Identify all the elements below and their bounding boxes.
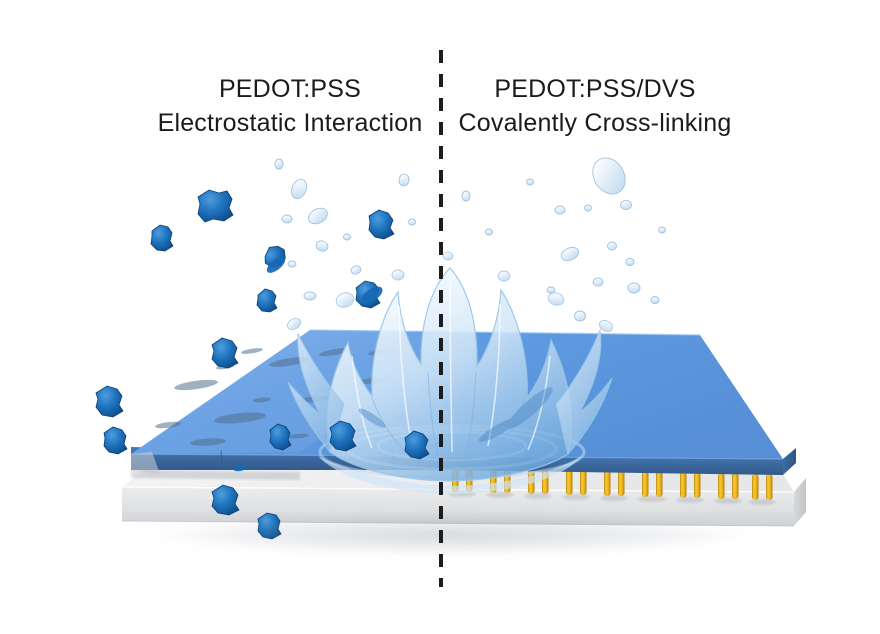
caption-right: PEDOT:PSS/DVS Covalently Cross-linking — [440, 72, 750, 140]
caption-left: PEDOT:PSS Electrostatic Interaction — [140, 72, 440, 140]
dashed-divider — [439, 50, 443, 587]
caption-right-line2: Covalently Cross-linking — [440, 106, 750, 140]
device-drop-shadow — [150, 515, 750, 555]
caption-left-line1: PEDOT:PSS — [140, 72, 440, 106]
caption-right-line1: PEDOT:PSS/DVS — [440, 72, 750, 106]
figure-canvas: PEDOT:PSS Electrostatic Interaction PEDO… — [0, 0, 880, 634]
caption-left-line2: Electrostatic Interaction — [140, 106, 440, 140]
